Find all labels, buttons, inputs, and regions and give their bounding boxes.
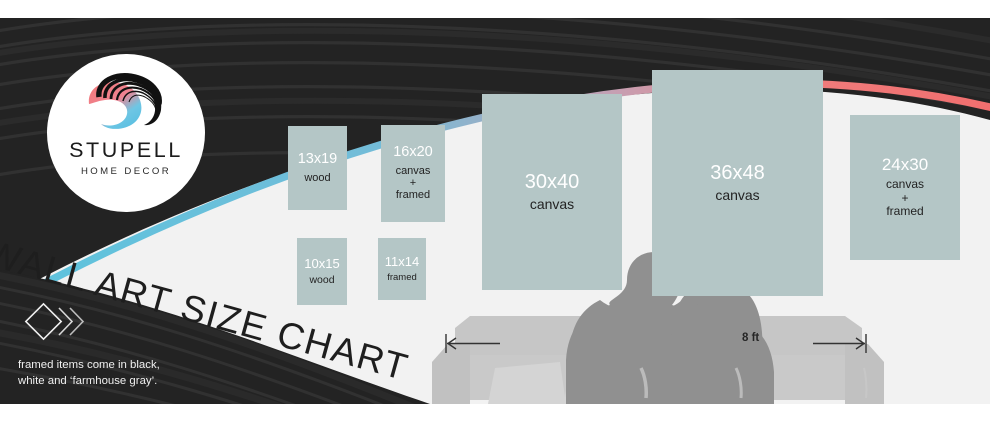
frame-swatch-16x20: 16x20canvas + framed (381, 125, 445, 222)
frame-size-label: 16x20 (393, 145, 433, 160)
frame-material-label: wood (309, 275, 334, 287)
frame-material-label: canvas + framed (886, 178, 924, 218)
frame-swatch-36x48: 36x48canvas (652, 70, 823, 296)
footnote: framed items come in black, white and ‘f… (18, 357, 160, 389)
frame-swatch-13x19: 13x19wood (288, 126, 347, 210)
frame-material-label: canvas (715, 188, 759, 204)
frame-size-label: 13x19 (298, 152, 338, 167)
wall-art-size-chart-banner: STUPELL HOME DECOR WALL ART SIZE CHART f… (0, 0, 990, 422)
brand-logo-badge: STUPELL HOME DECOR (47, 54, 205, 212)
frame-material-label: framed (387, 273, 417, 284)
footnote-line-2: white and ‘farmhouse gray’. (18, 373, 160, 389)
frame-swatch-30x40: 30x40canvas (482, 94, 622, 290)
frame-material-label: canvas + framed (396, 165, 431, 202)
footnote-line-1: framed items come in black, (18, 357, 160, 373)
frame-size-label: 36x48 (710, 163, 765, 183)
frame-size-label: 11x14 (385, 255, 419, 268)
frame-swatch-10x15: 10x15wood (297, 238, 347, 305)
brand-name: STUPELL (69, 140, 183, 162)
frame-size-label: 30x40 (525, 172, 580, 192)
frame-material-label: canvas (530, 197, 574, 213)
frame-size-label: 24x30 (882, 156, 928, 173)
frame-swatch-11x14: 11x14framed (378, 238, 426, 300)
stupell-swoosh-logo-icon (81, 64, 171, 136)
brand-tagline: HOME DECOR (81, 167, 171, 177)
measurement-label: 8 ft (742, 332, 759, 344)
frame-swatch-24x30: 24x30canvas + framed (850, 115, 960, 260)
frame-material-label: wood (304, 172, 330, 184)
frame-size-label: 10x15 (304, 257, 339, 270)
diamond-chevron-icon (22, 300, 94, 349)
